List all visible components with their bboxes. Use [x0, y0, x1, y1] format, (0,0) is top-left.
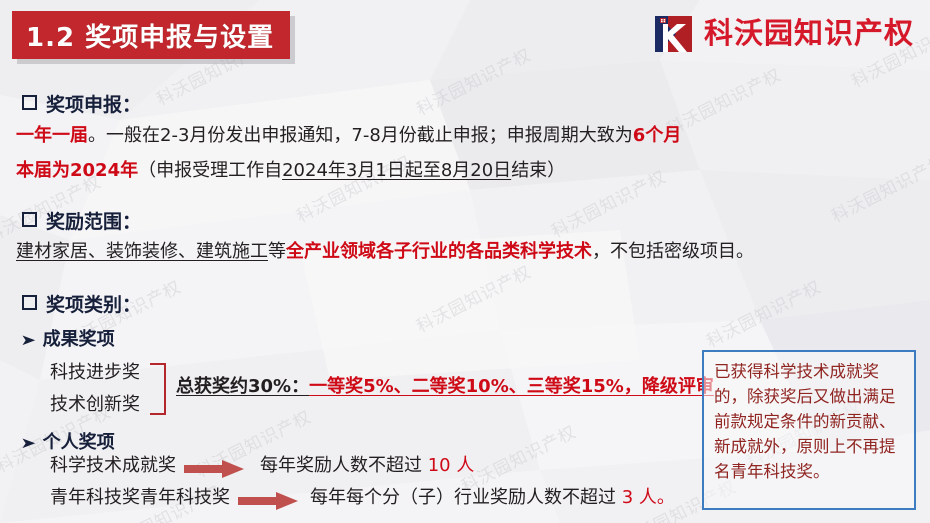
award-item-tech-innovation: 技术创新奖 — [50, 396, 140, 414]
text-total-rate: 总获奖约30%： — [176, 376, 309, 397]
text-etc: 等 — [268, 241, 286, 262]
text-industries: 建材家居、装饰装修、建筑施工 — [16, 241, 268, 262]
text-exclusion: ，不包括密级项目。 — [592, 241, 754, 262]
text-tier-breakdown: 一等奖5%、二等奖10%、三等奖15%，降级评审 — [309, 376, 714, 397]
subheading-text: 成果奖项 — [43, 329, 115, 350]
text-paren-close: 结束） — [511, 160, 565, 181]
paragraph-application-cycle: 一年一届。一般在2-3月份发出申报通知，7-8月份截止申报；申报周期大致为6个月 — [16, 127, 681, 145]
personal-award-name-1: 科学技术成就奖 — [50, 457, 176, 475]
slide-body: 奖项申报： 一年一届。一般在2-3月份发出申报通知，7-8月份截止申报；申报周期… — [0, 0, 930, 523]
text-limit-pre: 每年奖励人数不超过 — [260, 455, 422, 476]
personal-award-desc-2: 每年每个分（子）行业奖励人数不超过 3 人。 — [310, 489, 675, 507]
subheading-text: 个人奖项 — [43, 432, 115, 453]
text-annual-session: 一年一届 — [16, 125, 88, 146]
slide-canvas: 科沃园知识产权 科沃园知识产权 科沃园知识产权 科沃园知识产权 科沃园知识产权 … — [0, 0, 930, 523]
award-item-tech-progress: 科技进步奖 — [50, 364, 140, 382]
square-bullet-icon — [22, 212, 37, 227]
heading-award-scope: 奖励范围： — [22, 207, 141, 234]
text-limit-count: 10 — [428, 455, 451, 476]
callout-text: 已获得科学技术成就奖的，除获奖后又做出满足前款规定条件的新贡献、新成就外，原则上… — [714, 359, 905, 484]
heading-text: 奖项类别： — [46, 294, 141, 316]
text-date-range: 2024年3月1日起至8月20日 — [282, 160, 511, 181]
square-bullet-icon — [22, 95, 37, 110]
subheading-achievement-awards: ➤成果奖项 — [22, 325, 115, 351]
arrowhead-bullet-icon: ➤ — [20, 331, 36, 349]
grouping-bracket-icon — [150, 363, 166, 415]
text-limit-pre: 每年每个分（子）行业奖励人数不超过 — [310, 487, 616, 508]
square-bullet-icon — [22, 295, 37, 310]
callout-box-youth-award: 已获得科学技术成就奖的，除获奖后又做出满足前款规定条件的新贡献、新成就外，原则上… — [702, 350, 916, 510]
paragraph-scope: 建材家居、装饰装修、建筑施工等全产业领域各子行业的各品类科学技术，不包括密级项目… — [16, 243, 754, 261]
subheading-personal-awards: ➤个人奖项 — [22, 428, 115, 454]
right-arrow-icon — [184, 459, 246, 479]
heading-text: 奖项申报： — [46, 94, 141, 116]
heading-text: 奖励范围： — [46, 211, 141, 233]
text-paren-open: （申报受理工作自 — [138, 160, 282, 181]
text-limit-unit: 人 — [456, 455, 474, 476]
text-notice-period: 。一般在2-3月份发出申报通知，7-8月份截止申报；申报周期大致为 — [88, 125, 633, 146]
personal-award-desc-1: 每年奖励人数不超过 10 人 — [260, 457, 474, 475]
text-full-industry: 全产业领域各子行业的各品类科学技术 — [286, 241, 592, 262]
text-limit-count: 3 — [622, 487, 633, 508]
text-current-year: 本届为2024年 — [16, 160, 138, 181]
arrowhead-bullet-icon: ➤ — [20, 434, 36, 452]
heading-award-application: 奖项申报： — [22, 90, 141, 117]
paragraph-award-ratios: 总获奖约30%：一等奖5%、二等奖10%、三等奖15%，降级评审 — [176, 378, 714, 396]
text-limit-unit: 人。 — [639, 487, 675, 508]
text-six-months: 6个月 — [633, 125, 682, 146]
paragraph-current-session: 本届为2024年（申报受理工作自2024年3月1日起至8月20日结束） — [16, 162, 565, 180]
personal-award-name-2: 青年科技奖青年科技奖 — [50, 489, 230, 507]
heading-award-categories: 奖项类别： — [22, 290, 141, 317]
right-arrow-icon — [238, 491, 300, 511]
